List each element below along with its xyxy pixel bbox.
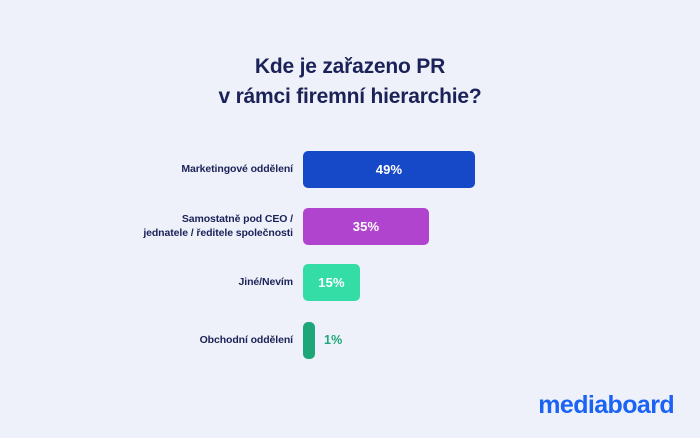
bar-row: Samostatně pod CEO / jednatele / ředitel…: [0, 207, 700, 245]
bar-row: Jiné/Nevím 15%: [0, 263, 700, 301]
bar-category-label-line: Samostatně pod CEO /: [0, 212, 293, 226]
bar-row: Obchodní oddělení 1%: [0, 321, 700, 359]
bar-category-label: Obchodní oddělení: [0, 333, 303, 347]
bar-marketingove-oddeleni[interactable]: 49%: [303, 151, 475, 188]
bar-category-label-line: Jiné/Nevím: [0, 275, 293, 289]
mediaboard-logo: mediaboard: [538, 391, 674, 420]
bar-wrap: 15%: [303, 263, 360, 301]
bar-samostatne-pod-ceo[interactable]: 35%: [303, 208, 429, 245]
bar-chart: Marketingové oddělení 49% Samostatně pod…: [0, 150, 700, 375]
bar-wrap: 1%: [303, 321, 342, 359]
bar-category-label: Samostatně pod CEO / jednatele / ředitel…: [0, 212, 303, 240]
bar-jine-nevim[interactable]: 15%: [303, 264, 360, 301]
bar-value-label: 35%: [353, 219, 380, 234]
bar-value-label: 1%: [324, 333, 342, 347]
bar-value-label: 15%: [318, 275, 345, 290]
chart-title: Kde je zařazeno PR v rámci firemní hiera…: [0, 52, 700, 112]
bar-obchodni-oddeleni[interactable]: [303, 322, 315, 359]
bar-row: Marketingové oddělení 49%: [0, 150, 700, 188]
bar-category-label: Jiné/Nevím: [0, 275, 303, 289]
bar-category-label-line: jednatele / ředitele společnosti: [0, 226, 293, 240]
bar-value-label: 49%: [376, 162, 403, 177]
chart-title-line-1: Kde je zařazeno PR: [0, 52, 700, 82]
bar-category-label-line: Obchodní oddělení: [0, 333, 293, 347]
bar-category-label: Marketingové oddělení: [0, 162, 303, 176]
bar-wrap: 49%: [303, 150, 475, 188]
chart-canvas: Kde je zařazeno PR v rámci firemní hiera…: [0, 0, 700, 438]
bar-wrap: 35%: [303, 207, 429, 245]
chart-title-line-2: v rámci firemní hierarchie?: [0, 82, 700, 112]
bar-category-label-line: Marketingové oddělení: [0, 162, 293, 176]
